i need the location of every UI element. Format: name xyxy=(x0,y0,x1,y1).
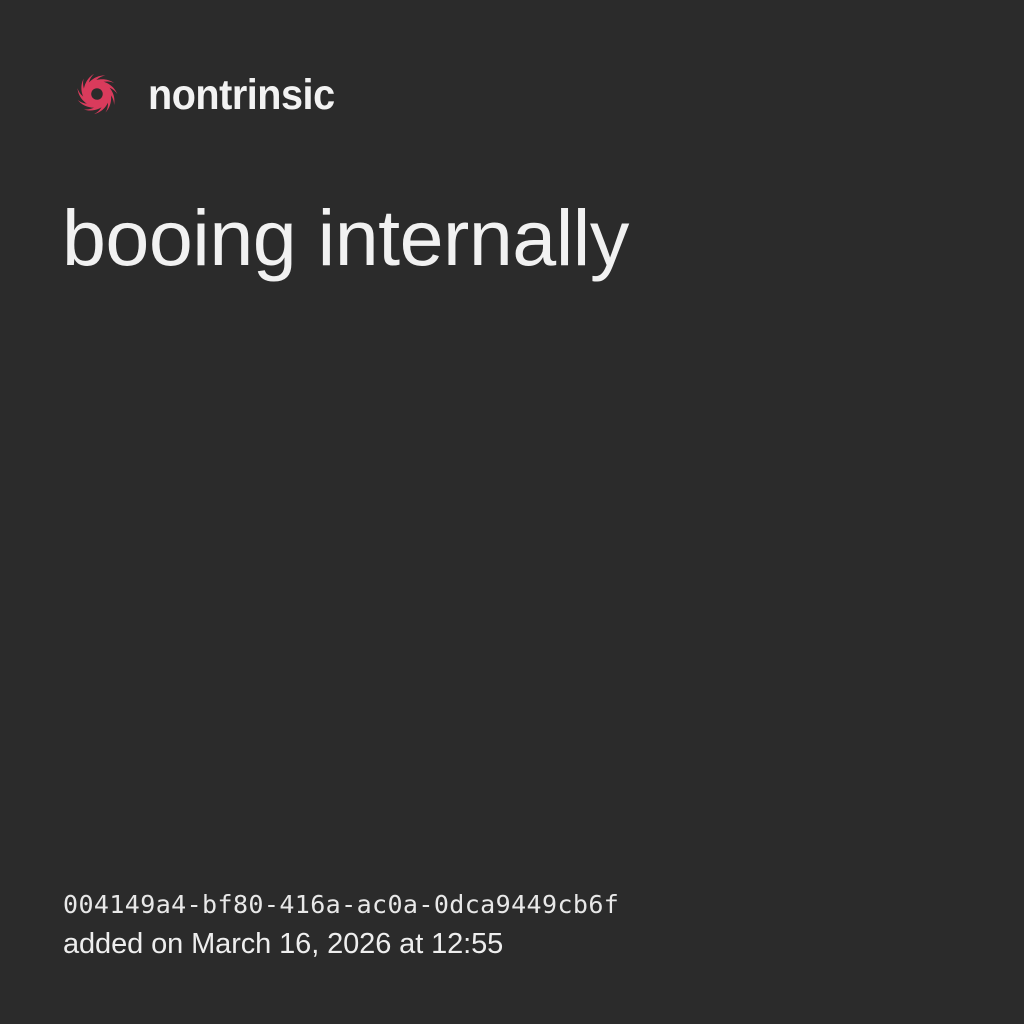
entry-added-timestamp: added on March 16, 2026 at 12:55 xyxy=(63,926,619,964)
brand-header[interactable]: nontrinsic xyxy=(62,58,351,130)
spiral-pinwheel-icon xyxy=(62,59,132,129)
brand-wordmark: nontrinsic xyxy=(148,74,335,117)
entry-title: booing internally xyxy=(62,196,960,280)
entry-card: nontrinsic booing internally 004149a4-bf… xyxy=(0,0,1024,1024)
entry-id: 004149a4-bf80-416a-ac0a-0dca9449cb6f xyxy=(63,888,619,922)
entry-meta: 004149a4-bf80-416a-ac0a-0dca9449cb6f add… xyxy=(63,888,619,964)
